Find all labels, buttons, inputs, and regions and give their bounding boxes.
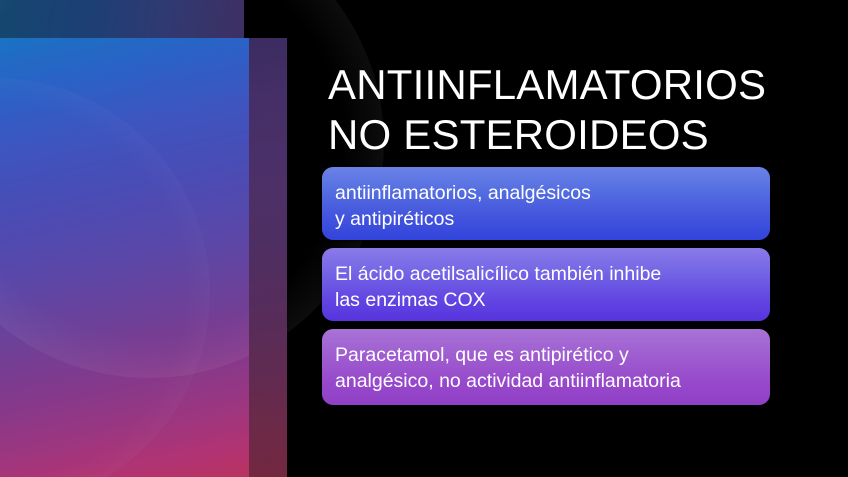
artwork-main-gradient	[0, 38, 249, 477]
slide-title: ANTIINFLAMATORIOS NO ESTEROIDEOS	[328, 60, 798, 160]
content-box-3: Paracetamol, que es antipirético y analg…	[322, 329, 770, 405]
slide: ANTIINFLAMATORIOS NO ESTEROIDEOS antiinf…	[0, 0, 848, 477]
content-box-2: El ácido acetilsalicílico también inhibe…	[322, 248, 770, 321]
content-box-list: antiinflamatorios, analgésicos y antipir…	[322, 167, 770, 413]
content-box-1: antiinflamatorios, analgésicos y antipir…	[322, 167, 770, 240]
decorative-gradient-artwork	[0, 0, 288, 477]
artwork-side-column	[249, 38, 287, 477]
